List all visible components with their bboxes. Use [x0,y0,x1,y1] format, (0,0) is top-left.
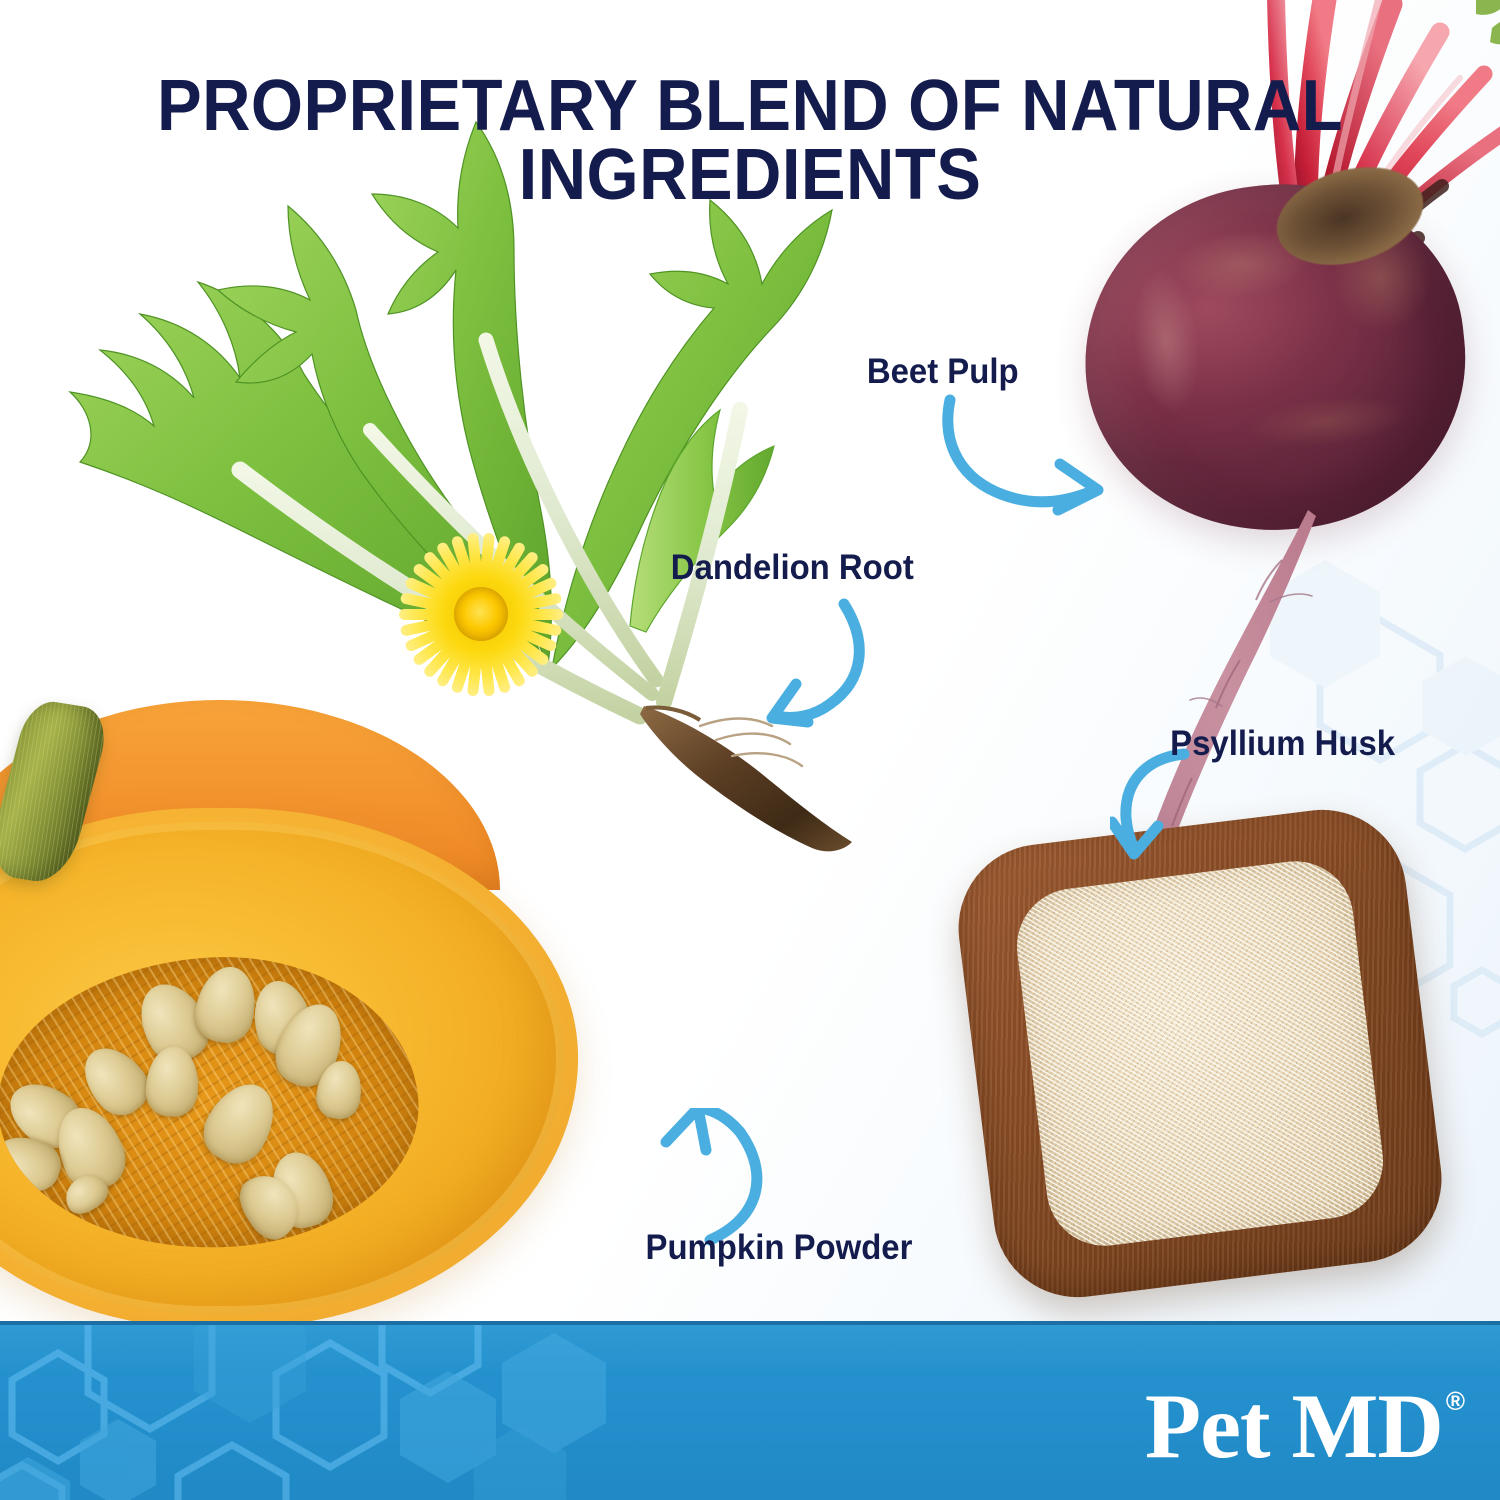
dandelion-flower [395,528,567,700]
callout-label-psyllium-husk: Psyllium Husk [1170,724,1395,764]
psyllium-husk-bowl-image [955,812,1455,1324]
callout-label-pumpkin-powder: Pumpkin Powder [646,1228,913,1268]
brand-name: Pet MD [1145,1380,1443,1472]
callout-label-beet-pulp: Beet Pulp [867,352,1019,392]
psyllium-husk-contents [1010,855,1389,1253]
pumpkin-seed-cavity [0,944,428,1263]
callout-label-dandelion-root: Dandelion Root [671,548,914,588]
registered-trademark-icon: ® [1446,1388,1464,1414]
dandelion-foliage [0,110,880,870]
infographic-canvas: PROPRIETARY BLEND OF NATURAL INGREDIENTS… [0,0,1500,1500]
wooden-bowl [949,800,1451,1306]
flower-center [454,587,508,641]
dandelion-plant-image [0,110,880,870]
brand-logo: Pet MD ® [1145,1380,1464,1472]
beet-image [1040,0,1500,670]
brand-footer-bar: Pet MD ® [0,1321,1500,1500]
dandelion-root-shape [640,706,852,851]
beet-bulb [1068,166,1482,549]
hexagon-pattern [0,1325,620,1500]
